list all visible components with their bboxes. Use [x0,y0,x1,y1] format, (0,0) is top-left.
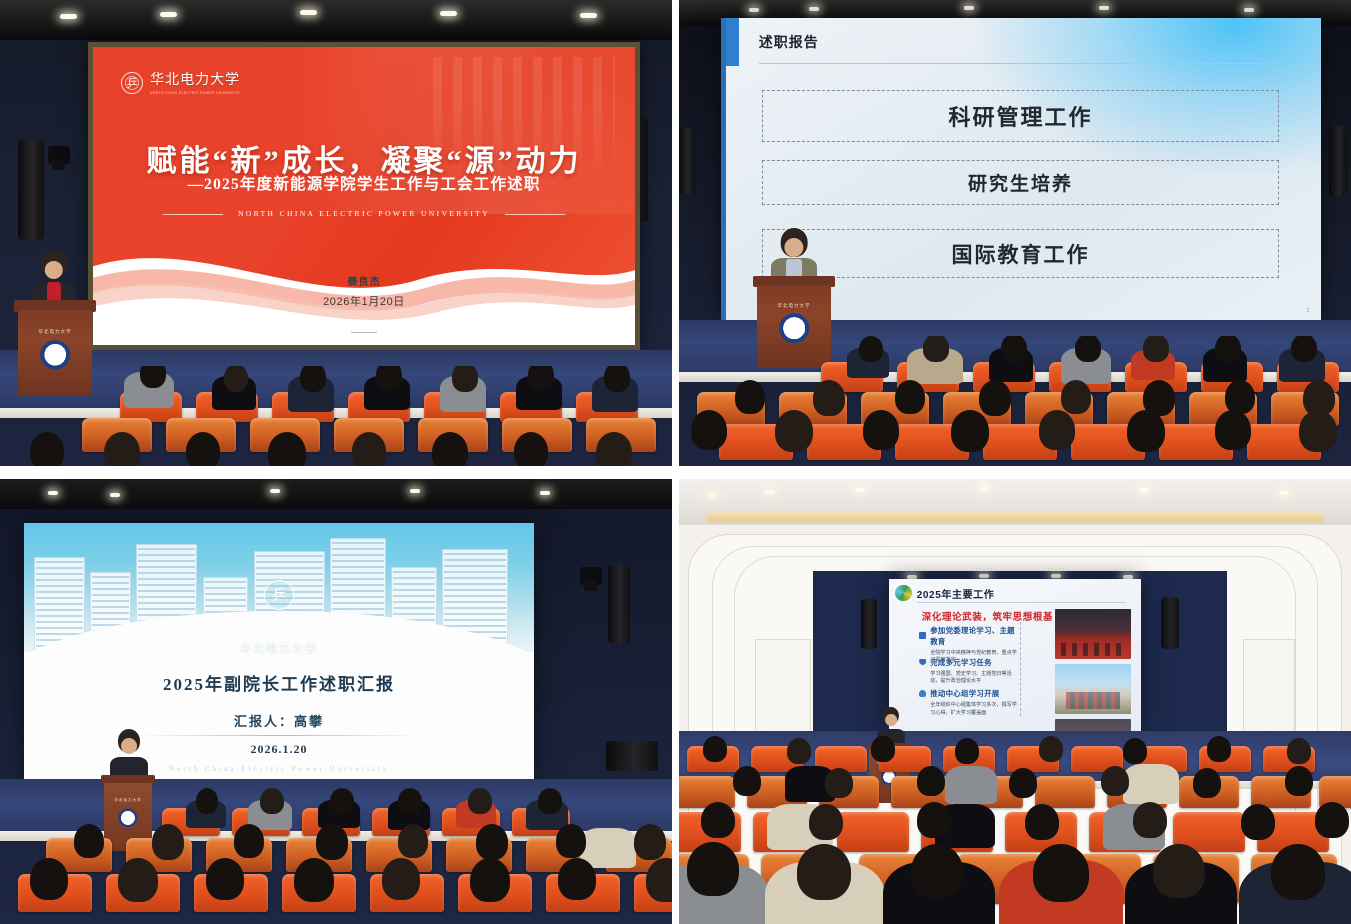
attendee-head [452,366,478,392]
attendee-head [1271,844,1325,900]
logo-text-en: NORTH CHINA ELECTRIC POWER UNIVERSITY [150,91,240,95]
attendee-head [470,858,510,902]
photo-panel-top-right: 述职报告 科研管理工作 研究生培养 国际教育工作 2 华北电力大学 [679,0,1351,466]
person-bullet-icon [919,690,926,697]
accent-bar [726,18,739,66]
attendee-head [398,824,428,858]
ceiling-light [110,493,120,497]
agenda-header: 述职报告 [759,32,819,52]
attendee-head [687,842,739,896]
attendee-head [1285,766,1313,796]
attendee-head [1241,804,1275,840]
ceiling-light [979,487,989,491]
attendee-head [1225,380,1255,414]
college-logo-icon [895,585,911,601]
ceiling-light [300,10,317,15]
attendee-head [352,432,386,466]
attendee-head [733,766,761,796]
wall-speaker [1161,597,1179,649]
slide-reporter: 汇报人：高攀 [24,711,534,730]
attendee-head [140,366,166,388]
ceiling-light [809,7,819,11]
attendee-head [809,804,843,840]
podium-emblem-icon [40,340,70,370]
slide-title: 2025年主要工作 [917,586,995,601]
attendee-head [558,858,596,900]
projection-screen-campus: 乒 华北电力大学 2025年副院长工作述职汇报 汇报人：高攀 2026.1.20… [24,523,534,781]
stage-monitor-speaker [606,741,658,771]
attendee-head [787,738,811,764]
ceiling-light [979,574,989,578]
ceiling-light [270,489,280,493]
attendee-coat [1123,764,1179,804]
attendee-head [1001,336,1027,362]
ceiling-light [855,488,865,492]
attendee-head [528,366,554,390]
audience-area [679,724,1351,924]
attendee-head [294,858,334,902]
attendee-head [300,366,326,392]
ceiling-light [1244,8,1254,12]
projection-screen-red: 华北电力大学 NORTH CHINA ELECTRIC POWER UNIVER… [88,42,640,350]
attendee-head [911,844,963,898]
attendee-head [979,380,1011,416]
attendee-head [1143,336,1169,362]
slide-campus-title: 乒 华北电力大学 2025年副院长工作述职汇报 汇报人：高攀 2026.1.20… [24,523,534,781]
attendee-head [30,858,68,900]
bullet-body: 学习强国、党史学习、主题党日等活动，提升政治理论水平 [930,671,1020,686]
attendee-head [376,366,402,390]
attendee-head [1299,410,1337,452]
slide-title: 2025年副院长工作述职汇报 [24,670,534,695]
cove-lighting [706,512,1324,522]
attendee-head [556,824,586,858]
bullet-item-2: 完成多元学习任务 学习强国、党史学习、主题党日等活动，提升政治理论水平 [919,657,1020,686]
camera-rig-icon [580,567,602,585]
slide-work: 2025年主要工作 深化理论武装，筑牢思想根基 参加党委理论学习、主题教育 全院… [889,579,1141,731]
attendee-head [268,432,306,466]
slide-divider [917,602,1126,603]
attendee-head [1287,738,1311,764]
attendee-head [196,788,218,814]
attendee-head [951,410,989,452]
seat [837,812,909,852]
photo-panel-bottom-right: 2025年主要工作 深化理论武装，筑牢思想根基 参加党委理论学习、主题教育 全院… [679,479,1351,924]
attendee-head [30,432,64,466]
attendee-head [604,366,630,392]
wall-speaker [1329,126,1347,196]
campus-watermark: 华北电力大学 [240,639,318,655]
agenda-item-3[interactable]: 国际教育工作 [762,229,1280,277]
slide-red-heading: 深化理论武装，筑牢思想根基 [922,609,1053,623]
attendee-head [859,336,883,362]
attendee-head [1033,844,1089,902]
ceiling-light [765,490,775,494]
attendee-head [538,788,562,814]
wall-speaker [18,140,44,240]
attendee-head [316,824,348,860]
wall-speaker [861,599,877,649]
wall-speaker [608,565,630,643]
slide-english-line: NORTH CHINA ELECTRIC POWER UNIVERSITY [93,209,635,218]
agenda-divider [759,63,1280,64]
photo-panel-bottom-left: 乒 华北电力大学 2025年副院长工作述职汇报 汇报人：高攀 2026.1.20… [0,479,672,924]
ceiling-light [580,13,597,18]
attendee-head [1215,336,1241,362]
ceiling-light [749,8,759,12]
attendee-head [863,410,899,450]
attendee-head [330,788,354,814]
ceiling [0,0,672,40]
attendee-head [1315,802,1349,838]
attendee-head [514,432,548,466]
agenda-item-1[interactable]: 科研管理工作 [762,90,1280,141]
attendee-head [468,788,492,814]
camera-rig-icon [48,146,70,164]
attendee-head [1009,768,1037,798]
attendee-head [398,788,422,814]
bullet-head: 参加党委理论学习、主题教育 [930,625,1020,647]
university-emblem-icon [121,72,143,94]
attendee-head [224,366,248,392]
ceiling-light [707,493,717,497]
ceiling-light [1139,488,1149,492]
slide-date: 2026.1.20 [24,742,534,757]
attendee-head [895,380,925,414]
ceiling-light [60,14,77,19]
attendee-head [1039,410,1075,450]
ceiling-light [410,489,420,493]
attendee-head [260,788,284,814]
ceiling-light [160,12,177,17]
photo-collage: 华北电力大学 NORTH CHINA ELECTRIC POWER UNIVER… [0,0,1351,924]
slide-photo [1055,664,1131,714]
attendee-head [703,736,727,762]
attendee-head [1133,802,1167,838]
logo-text-cn: 华北电力大学 [150,73,240,88]
slide-divider [136,735,422,736]
slide-presenter: 姜良杰 [93,273,635,288]
bullet-head: 推动中心组学习开展 [930,688,999,699]
attendee-head [923,336,949,362]
attendee-head [797,844,851,900]
grid-gutter-horizontal [0,466,1351,479]
attendee-head [1291,336,1317,362]
attendee-head [813,380,845,416]
attendee-head [596,432,632,466]
attendee-head [634,824,666,860]
ceiling [0,479,672,509]
slide-page-number: 2 [1306,308,1309,314]
bullet-body: 全年组织中心组集体学习多次，撰写学习心得，扩大学习覆盖面 [930,702,1020,717]
vertical-divider [1020,622,1021,716]
attendee-head [1075,336,1101,362]
podium-plaque: 华北电力大学 [39,329,72,335]
ceiling-light [48,491,58,495]
ceiling-light [1099,6,1109,10]
attendee-head [871,736,895,762]
attendee-head [646,858,672,902]
square-bullet-icon [919,632,926,639]
attendee-coat [945,766,997,804]
attendee-head [118,858,158,902]
podium-plaque: 华北电力大学 [778,303,811,309]
agenda-item-2[interactable]: 研究生培养 [762,160,1280,205]
attendee-head [735,380,765,414]
attendee-head [1039,736,1063,762]
ceiling-light [1279,491,1289,495]
attendee-head [1193,768,1221,798]
attendee-head [775,410,813,452]
attendee-head [206,858,244,900]
grid-gutter-vertical [672,0,679,924]
attendee-head [1025,804,1059,840]
attendee-head [152,824,184,860]
attendee-head [1101,766,1129,796]
attendee-head [234,824,264,858]
attendee-head [74,824,104,858]
attendee-head [701,802,735,838]
attendee-head [691,410,727,450]
university-logo: 华北电力大学 NORTH CHINA ELECTRIC POWER UNIVER… [121,71,240,95]
shield-bullet-icon [919,659,926,666]
attendee-head [955,738,979,764]
audience-area [0,366,672,466]
attendee-head [1061,380,1091,414]
attendee-head [917,766,945,796]
attendee-head [1153,844,1205,898]
slide-subtitle: —2025年度新能源学院学生工作与工会工作述职 [93,172,635,194]
slide-english-line: North China Electric Power University [24,765,534,773]
attendee-head [1123,738,1147,764]
attendee-head [1127,410,1165,452]
bullet-item-3: 推动中心组学习开展 全年组织中心组集体学习多次，撰写学习心得，扩大学习覆盖面 [919,688,1020,717]
audience-area [0,784,672,924]
slide-photo-strip [1055,609,1131,731]
attendee-head [1207,736,1231,762]
attendee-head [917,802,951,838]
ceiling-light [440,11,457,16]
ceiling-light [540,491,550,495]
seat [679,776,735,808]
photo-panel-top-left: 华北电力大学 NORTH CHINA ELECTRIC POWER UNIVER… [0,0,672,466]
attendee-head [432,432,468,466]
ceiling-light [964,6,974,10]
attendee-head [104,432,140,466]
slide-red-title: 华北电力大学 NORTH CHINA ELECTRIC POWER UNIVER… [93,47,635,345]
audience-area [679,336,1351,466]
slide-photo [1055,609,1131,659]
speaker-face [45,261,63,279]
slide-bottom-rule [351,332,377,333]
projection-screen-work: 2025年主要工作 深化理论武装，筑牢思想根基 参加党委理论学习、主题教育 全院… [889,579,1141,731]
bullet-head: 完成多元学习任务 [930,657,992,668]
attendee-head [382,858,420,900]
slide-date: 2026年1月20日 [93,293,635,309]
attendee-head [1215,410,1251,450]
wall-speaker [679,128,695,194]
ceiling-light [1051,574,1061,578]
attendee-head [476,824,508,860]
speaker-face [121,738,137,754]
attendee-head [825,768,853,798]
university-emblem-icon: 乒 [264,580,294,610]
attendee-head [186,432,220,466]
